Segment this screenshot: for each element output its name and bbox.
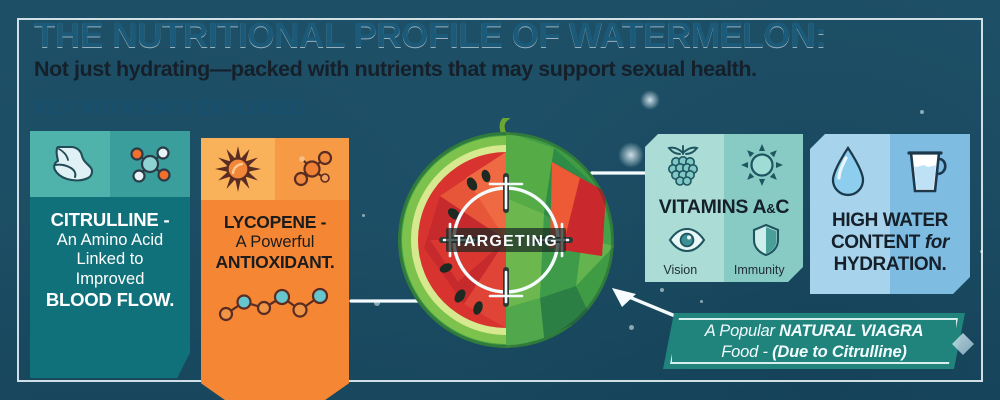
water-line3: HYDRATION. [816, 254, 964, 276]
flexed-bicep-icon [30, 131, 110, 197]
sparkle-icon [920, 110, 924, 114]
sparkle-icon [660, 288, 664, 292]
molecule-chain-icon [209, 283, 341, 329]
molecule-icon [110, 131, 190, 197]
sparkle-icon [362, 214, 365, 217]
panel-vitamins-top-icons [645, 142, 803, 193]
banner-line2-plain: Food - [721, 343, 772, 361]
targeting-label: TARGETING [454, 233, 558, 250]
vision-caption: Vision [663, 263, 697, 277]
banner-natural-viagra[interactable]: A Popular NATURAL VIAGRA Food - (Due to … [663, 313, 965, 369]
panel-vitamins[interactable]: VITAMINS A&C Vision [645, 134, 803, 282]
card-citrulline-line5: BLOOD FLOW. [38, 289, 182, 311]
card-lycopene-line3: ANTIOXIDANT. [209, 252, 341, 273]
molecule-icon [275, 138, 349, 200]
watermelon-illustration: TARGETING [394, 118, 618, 352]
page-subtitle: Not just hydrating—packed with nutrients… [34, 58, 979, 82]
panel-water-top-icons [810, 142, 970, 206]
glass-of-water-icon [902, 145, 954, 204]
card-lycopene-icons [201, 138, 349, 200]
sparkle-icon [629, 325, 634, 330]
infographic-canvas: THE NUTRITIONAL PROFILE OF WATERMELON: N… [0, 0, 1000, 400]
panel-water[interactable]: HIGH WATER CONTENT for HYDRATION. [810, 134, 970, 294]
card-citrulline-icons [30, 131, 190, 197]
card-citrulline-line1: CITRULLINE - [38, 209, 182, 231]
card-citrulline[interactable]: CITRULLINE - An Amino Acid Linked to Imp… [30, 131, 190, 378]
water-drop-icon [827, 144, 869, 205]
card-citrulline-line4: Improved [38, 270, 182, 289]
eye-icon [667, 226, 707, 259]
card-lycopene-line2: A Powerful [209, 233, 341, 252]
card-lycopene[interactable]: LYCOPENE - A Powerful ANTIOXIDANT. [201, 138, 349, 400]
sparkle-icon [980, 250, 983, 253]
card-citrulline-line2: An Amino Acid [38, 231, 182, 250]
sparkle-icon [640, 90, 660, 110]
card-citrulline-line3: Linked to [38, 250, 182, 269]
sparkle-icon [618, 142, 644, 168]
sun-icon [201, 138, 275, 200]
sparkle-icon [700, 300, 703, 303]
panel-water-text: HIGH WATER CONTENT for HYDRATION. [810, 206, 970, 276]
sun-icon [738, 142, 786, 193]
vitamins-title-main: VITAMINS A [659, 196, 767, 218]
shield-icon [751, 223, 781, 262]
section-kicker: KEY NUTRIENTS EXPLORED [34, 98, 305, 120]
water-line1: HIGH WATER [816, 210, 964, 232]
panel-vitamins-bottom-icons [645, 223, 803, 262]
banner-line2-bold: (Due to Citrulline) [772, 343, 907, 361]
card-lycopene-text: LYCOPENE - A Powerful ANTIOXIDANT. [201, 200, 349, 400]
immunity-caption: Immunity [734, 263, 785, 277]
water-line2a: CONTENT [831, 232, 925, 253]
vitamins-title-tail: C [775, 196, 789, 218]
banner-line1-bold: NATURAL VIAGRA [779, 322, 923, 340]
banner-line1-plain: A Popular [705, 322, 779, 340]
page-title: THE NUTRITIONAL PROFILE OF WATERMELON: [34, 18, 974, 55]
banner-text: A Popular NATURAL VIAGRA Food - (Due to … [663, 313, 965, 362]
sparkle-icon [374, 300, 380, 306]
card-lycopene-line1: LYCOPENE - [209, 212, 341, 233]
berry-icon [662, 142, 704, 193]
water-line2b: for [925, 232, 949, 253]
card-citrulline-text: CITRULLINE - An Amino Acid Linked to Imp… [30, 197, 190, 378]
panel-vitamins-title: VITAMINS A&C [659, 196, 789, 219]
